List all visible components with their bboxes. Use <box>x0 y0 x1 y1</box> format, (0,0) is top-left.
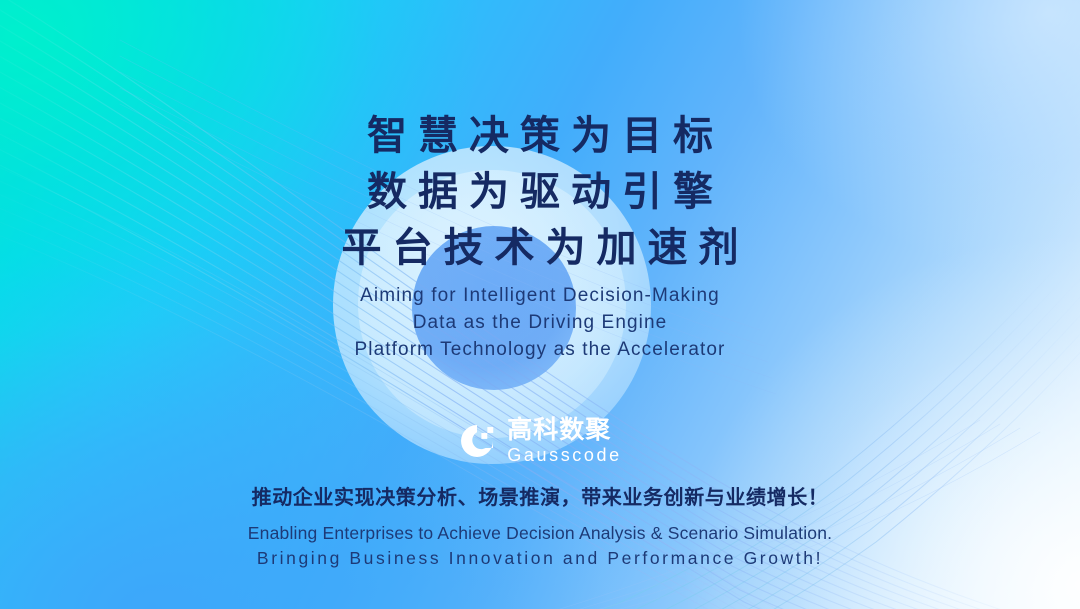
poster-canvas: 智慧决策为目标 数据为驱动引擎 平台技术为加速剂 Aiming for Inte… <box>0 0 1080 609</box>
subheadline-line-3: Platform Technology as the Accelerator <box>355 336 726 363</box>
tagline-english-line-2: Bringing Business Innovation and Perform… <box>248 546 832 571</box>
subheadline-line-2: Data as the Driving Engine <box>355 309 726 336</box>
subheadline-line-1: Aiming for Intelligent Decision-Making <box>355 282 726 309</box>
poster-content: 智慧决策为目标 数据为驱动引擎 平台技术为加速剂 Aiming for Inte… <box>0 0 1080 609</box>
tagline-english-line-1: Enabling Enterprises to Achieve Decision… <box>248 521 832 546</box>
logo-name-english: Gausscode <box>507 446 621 464</box>
tagline-english: Enabling Enterprises to Achieve Decision… <box>248 521 832 571</box>
headline-line-1: 智慧决策为目标 <box>331 108 750 164</box>
brand-logo: 高科数聚 Gausscode <box>458 418 621 464</box>
tagline-chinese: 推动企业实现决策分析、场景推演，带来业务创新与业绩增长！ <box>252 481 829 510</box>
logo-name-chinese: 高科数聚 <box>507 418 621 443</box>
headline-line-3: 平台技术为加速剂 <box>331 220 750 276</box>
logo-wordmark: 高科数聚 Gausscode <box>507 418 621 464</box>
subheadline-english: Aiming for Intelligent Decision-Making D… <box>355 282 726 363</box>
headline-chinese: 智慧决策为目标 数据为驱动引擎 平台技术为加速剂 <box>331 108 750 276</box>
gausscode-logo-icon <box>458 422 496 460</box>
headline-line-2: 数据为驱动引擎 <box>331 164 750 220</box>
